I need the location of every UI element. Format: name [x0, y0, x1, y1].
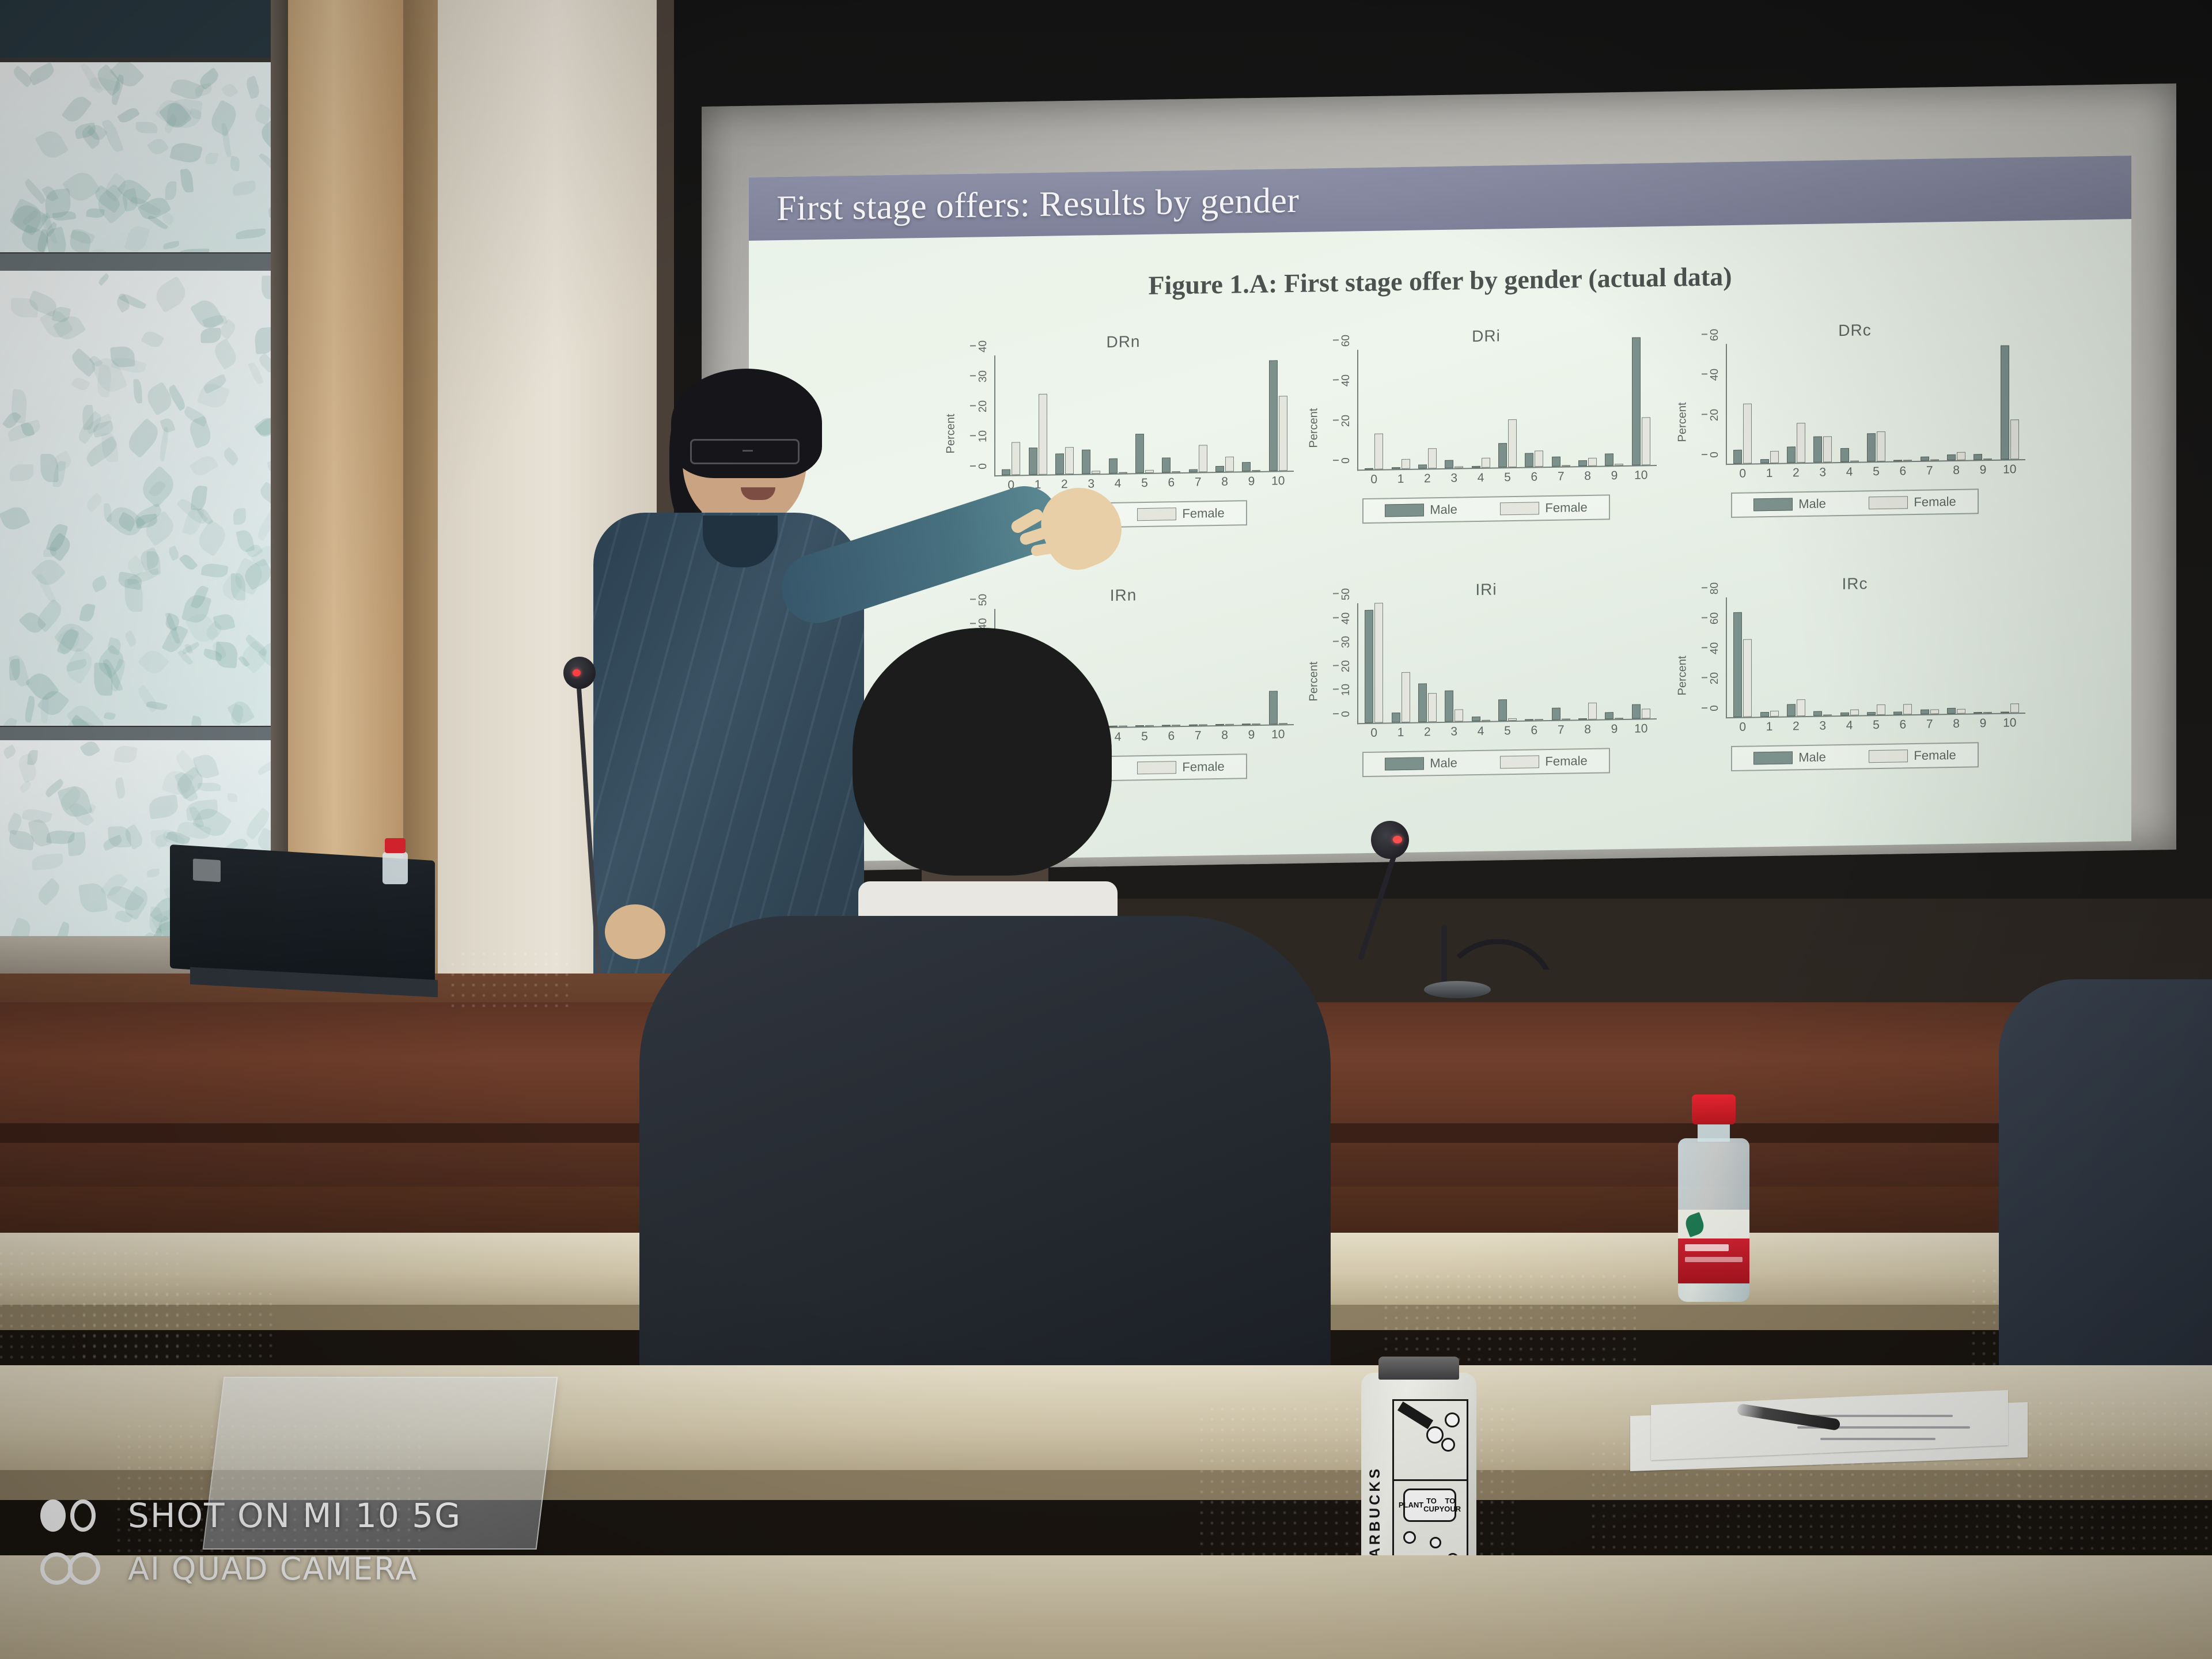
window-mullion — [0, 253, 271, 273]
bar-group — [1024, 355, 1051, 475]
bar-female — [1172, 471, 1180, 472]
bar-group — [1889, 594, 1916, 715]
bar-male — [2001, 711, 2009, 713]
comic-berry — [1426, 1426, 1444, 1444]
bar-female — [1402, 672, 1410, 722]
bar-male — [1498, 699, 1507, 721]
plot-area: Percent0204060012345678910 — [1308, 345, 1665, 495]
bar-series — [1729, 339, 2023, 464]
bar-group — [1863, 342, 1889, 462]
bar-male — [1893, 460, 1902, 461]
bar-male — [1445, 460, 1453, 468]
bar-female — [1455, 466, 1463, 468]
bar-male — [1921, 710, 1929, 714]
bar-group — [1441, 348, 1467, 468]
x-tick-label: 1 — [1756, 467, 1782, 481]
bar-male — [1418, 464, 1427, 468]
microphone-led-indicator — [1393, 836, 1402, 843]
bar-female — [1374, 433, 1383, 469]
chair[interactable] — [449, 950, 570, 1014]
bar-male — [1947, 454, 1956, 461]
bar-male — [1733, 449, 1742, 464]
x-tick-label: 1 — [1756, 720, 1782, 734]
plot-area: Percent020406080012345678910 — [1676, 593, 2033, 743]
bar-female — [1199, 445, 1207, 472]
watermark-line-2: AI QUAD CAMERA — [128, 1551, 418, 1587]
bar-group — [1916, 594, 1943, 714]
bar-male — [1605, 712, 1613, 719]
bar-group — [1729, 343, 1756, 464]
x-tick-label: 2 — [1414, 725, 1441, 740]
x-tick-label: 10 — [1997, 716, 2023, 730]
y-tick-mark — [1702, 618, 1707, 619]
legend-item-male: Male — [1753, 496, 1826, 512]
legend-label-female: Female — [1545, 500, 1587, 516]
bar-female — [1562, 465, 1570, 466]
bar-female — [1957, 452, 1965, 460]
legend-label-female: Female — [1914, 748, 1956, 763]
y-tick-label: 60 — [1709, 612, 1721, 624]
dual-circle-icon — [40, 1499, 108, 1532]
x-tick-label: 9 — [1238, 475, 1264, 489]
y-axis-ticks: 020406080 — [1691, 597, 1725, 719]
bar-series — [1361, 345, 1654, 469]
bar-male — [1162, 457, 1171, 472]
x-tick-label: 3 — [1441, 725, 1467, 739]
chart-title: DRn — [945, 330, 1302, 354]
legend-item-female: Female — [1500, 753, 1587, 770]
bar-male — [1947, 708, 1956, 714]
x-tick-label: 5 — [1863, 465, 1889, 479]
y-tick-mark — [1333, 380, 1339, 381]
x-tick-label: 6 — [1889, 464, 1916, 479]
bar-group — [1387, 603, 1414, 723]
bar-group — [1238, 351, 1264, 472]
y-tick-mark — [1702, 647, 1707, 649]
bar-group — [1494, 347, 1521, 468]
bottle-label-text-line — [1685, 1257, 1743, 1262]
bar-female — [1957, 709, 1965, 714]
comic-berry — [1441, 1438, 1455, 1452]
bar-male — [1472, 717, 1480, 722]
microphone-capsule — [1371, 821, 1409, 859]
bottle-body — [382, 852, 408, 884]
bar-group — [1521, 347, 1547, 467]
bar-male — [1787, 704, 1796, 716]
chart-title: IRc — [1676, 572, 2033, 596]
bar-male — [1029, 448, 1037, 475]
comic-bean — [1430, 1537, 1441, 1548]
bar-female — [1092, 471, 1100, 474]
bar-group — [1601, 346, 1627, 466]
slide-title: First stage offers: Results by gender — [749, 180, 1299, 229]
bar-female — [1588, 703, 1597, 719]
camera-watermark: SHOT ON MI 10 5G AI QUAD CAMERA — [40, 1489, 616, 1595]
legend-item-female: Female — [1500, 500, 1587, 516]
bar-female — [1039, 393, 1047, 475]
bar-group — [1211, 351, 1238, 472]
legend-swatch-male — [1753, 751, 1793, 764]
bar-male — [1760, 459, 1769, 463]
x-tick-label: 4 — [1836, 465, 1862, 479]
legend-swatch-female — [1500, 755, 1539, 768]
legend-label-female: Female — [1914, 494, 1956, 510]
legend-label-male: Male — [1798, 496, 1826, 512]
bar-male — [1867, 434, 1876, 462]
bar-female — [1823, 436, 1832, 462]
bar-male — [1552, 708, 1560, 720]
bar-male — [1242, 463, 1251, 472]
bar-group — [1997, 593, 2023, 713]
bar-female — [1797, 423, 1805, 463]
x-axis-ticks: 012345678910 — [1729, 716, 2023, 734]
legend-swatch-female — [1869, 496, 1908, 509]
legend-item-male: Male — [1385, 755, 1457, 771]
bar-group — [1131, 353, 1158, 474]
x-tick-label: 8 — [1574, 723, 1601, 737]
y-tick-mark — [1702, 677, 1707, 679]
window-post — [271, 0, 288, 979]
chart-legend: MaleFemale — [1731, 488, 1979, 518]
bar-female — [1119, 472, 1127, 474]
bar-group — [1361, 349, 1387, 469]
bar-male — [1055, 453, 1064, 475]
x-tick-label: 5 — [1494, 471, 1521, 485]
y-tick-mark — [1333, 460, 1339, 461]
x-tick-label: 10 — [1628, 722, 1654, 736]
legend-label-female: Female — [1182, 506, 1224, 521]
comic-speech-bubble: PLANT TO CUP TO YOUR — [1403, 1488, 1456, 1522]
y-tick-mark — [1333, 593, 1339, 594]
x-axis-ticks: 012345678910 — [1729, 463, 2023, 481]
bar-female — [1482, 457, 1490, 468]
bar-female — [1279, 396, 1287, 471]
x-tick-label: 5 — [1494, 724, 1521, 738]
bar-female — [1508, 419, 1517, 467]
y-tick-mark — [1702, 707, 1707, 709]
bottle-label-text-line — [1685, 1244, 1729, 1251]
legend-swatch-female — [1137, 507, 1176, 521]
bar-male — [1525, 453, 1533, 467]
bar-group — [1414, 349, 1441, 469]
bar-group — [1863, 595, 1889, 715]
bar-series — [1361, 599, 1654, 723]
chart-title: IRn — [945, 584, 1302, 608]
y-axis-ticks: 0204060 — [1323, 350, 1356, 471]
bar-male — [1760, 712, 1769, 717]
bar-group — [1997, 339, 2023, 460]
bar-male — [1365, 468, 1373, 469]
legend-swatch-male — [1385, 757, 1424, 770]
x-tick-label: 4 — [1104, 476, 1131, 491]
bar-female — [1930, 459, 1939, 460]
bar-group — [1836, 595, 1862, 715]
x-tick-label: 5 — [1863, 718, 1889, 733]
y-tick-mark — [1333, 617, 1339, 618]
bar-female — [1770, 710, 1779, 717]
legend-label-male: Male — [1430, 502, 1457, 517]
bar-female — [1823, 714, 1832, 715]
bar-female — [1225, 457, 1234, 472]
bar-male — [1893, 711, 1902, 714]
audience-head — [853, 628, 1112, 876]
chart-DRc: DRcPercent0204060012345678910MaleFemale — [1676, 319, 2033, 566]
bar-group — [1574, 346, 1601, 467]
x-tick-label: 0 — [1361, 472, 1387, 487]
bar-group — [1521, 600, 1547, 721]
bar-female — [1535, 719, 1543, 720]
x-tick-label: 2 — [1414, 472, 1441, 486]
x-tick-label: 2 — [1783, 719, 1809, 734]
bar-male — [1840, 713, 1849, 715]
x-tick-label: 9 — [1969, 463, 1996, 478]
window-header — [0, 0, 288, 58]
chart-IRc: IRcPercent020406080012345678910MaleFemal… — [1676, 572, 2033, 820]
microphone-gooseneck-lower — [1441, 925, 1447, 988]
bar-group — [1628, 345, 1654, 465]
y-tick-mark — [1333, 419, 1339, 421]
bar-female — [1065, 447, 1074, 474]
bar-group — [1969, 593, 1996, 714]
y-tick-label: 40 — [1340, 374, 1353, 387]
y-tick-mark — [1702, 334, 1707, 335]
bar-female — [1145, 470, 1154, 473]
window — [0, 0, 288, 979]
y-tick-mark — [970, 346, 976, 347]
legend-item-male: Male — [1753, 749, 1826, 766]
bar-female — [1877, 704, 1885, 715]
bar-female — [1770, 451, 1779, 463]
bar-male — [1002, 469, 1010, 475]
legend-item-female: Female — [1869, 494, 1956, 510]
bar-female — [1535, 450, 1543, 467]
y-axis-ticks: 0204060 — [1691, 344, 1725, 465]
legend-item-female: Female — [1869, 748, 1956, 764]
bar-male — [1632, 338, 1641, 465]
bar-female — [1012, 442, 1020, 475]
bar-group — [1387, 349, 1414, 469]
bar-male — [1135, 434, 1144, 473]
y-tick-label: 40 — [1709, 369, 1721, 381]
bar-male — [1445, 691, 1453, 722]
bar-male — [1578, 460, 1587, 467]
bar-female — [1588, 458, 1597, 466]
wood-column-trim — [403, 0, 438, 979]
x-axis-ticks: 012345678910 — [1361, 722, 1654, 740]
x-tick-label: 6 — [1889, 718, 1916, 732]
y-axis-line — [1726, 597, 1727, 718]
bar-group — [1783, 596, 1809, 717]
bar-male — [1921, 457, 1929, 461]
y-tick-label: 60 — [1709, 329, 1721, 341]
bar-male — [1813, 436, 1822, 462]
foliage — [0, 62, 271, 252]
y-tick-label: 40 — [1340, 612, 1353, 624]
bar-female — [1797, 699, 1805, 716]
x-tick-label: 6 — [1521, 470, 1547, 484]
x-tick-label: 4 — [1467, 724, 1494, 738]
small-water-bottle — [380, 838, 410, 884]
bar-group — [1548, 346, 1574, 467]
y-tick-label: 0 — [1709, 452, 1721, 458]
tumbler-lid[interactable] — [1378, 1357, 1459, 1380]
bar-group — [1467, 347, 1494, 468]
desk-microphone — [1371, 821, 1561, 1005]
chart-legend: MaleFemale — [1731, 742, 1979, 771]
y-axis-label: Percent — [1674, 368, 1691, 477]
y-tick-mark — [1702, 588, 1707, 589]
legend-swatch-male — [1385, 503, 1424, 517]
chart-title: DRi — [1308, 324, 1665, 349]
bar-group — [998, 355, 1024, 475]
y-tick-label: 80 — [1709, 582, 1721, 594]
bar-female — [1903, 460, 1912, 461]
bar-group — [1943, 594, 1969, 714]
x-tick-label: 1 — [1387, 472, 1414, 487]
bar-male — [1189, 469, 1198, 472]
bubble-line-1: PLANT — [1399, 1501, 1423, 1509]
bar-female — [1850, 461, 1859, 462]
bar-female — [2010, 419, 2019, 460]
x-tick-label: 3 — [1809, 719, 1836, 733]
bar-female — [2010, 704, 2019, 713]
seminar-room-photo: First stage offers: Results by gender Fi… — [0, 0, 2212, 1659]
y-tick-label: 40 — [1709, 642, 1721, 654]
foliage — [0, 271, 271, 726]
x-tick-label: 7 — [1916, 464, 1943, 478]
y-tick-label: 40 — [977, 340, 990, 353]
bar-female — [1983, 459, 1992, 460]
glasses-icon — [690, 439, 800, 464]
bar-group — [1943, 340, 1969, 461]
x-tick-label: 10 — [1997, 463, 2023, 477]
bar-group — [1756, 597, 1782, 717]
bar-female — [1508, 718, 1517, 721]
bar-male — [1974, 454, 1982, 460]
bar-female — [1482, 720, 1490, 721]
chart-legend: MaleFemale — [1362, 494, 1610, 524]
bar-group — [1078, 354, 1104, 474]
bar-male — [1392, 467, 1400, 469]
bar-male — [1109, 459, 1118, 474]
bar-group — [1809, 342, 1836, 463]
bottle-cap — [385, 838, 406, 853]
y-tick-mark — [1702, 454, 1707, 455]
bar-group — [1185, 352, 1211, 472]
bar-female — [1850, 709, 1859, 715]
x-tick-label: 0 — [1729, 467, 1756, 481]
bar-group — [1467, 601, 1494, 721]
x-tick-label: 5 — [1131, 476, 1158, 491]
bar-male — [1733, 612, 1742, 717]
bubble-line-2: TO CUP — [1423, 1497, 1439, 1513]
bar-series — [998, 351, 1291, 475]
water-bottle[interactable] — [1673, 1094, 1754, 1302]
audience-torso — [639, 916, 1331, 1388]
y-axis-line — [1726, 344, 1727, 465]
x-tick-label: 8 — [1943, 717, 1969, 732]
bar-group — [1916, 340, 1943, 461]
x-tick-label: 6 — [1521, 724, 1547, 738]
bar-female — [1455, 710, 1463, 722]
x-tick-label: 4 — [1836, 718, 1862, 733]
x-tick-label: 4 — [1467, 471, 1494, 485]
chair[interactable] — [2016, 1400, 2212, 1550]
bar-group — [1494, 601, 1521, 721]
bar-group — [1628, 599, 1654, 719]
figure-title: Figure 1.A: First stage offer by gender … — [749, 255, 2131, 307]
bar-female — [1402, 459, 1410, 469]
y-axis-line — [1357, 350, 1358, 471]
y-axis-label: Percent — [1674, 621, 1691, 730]
bar-male — [1552, 456, 1560, 467]
bar-male — [2001, 346, 2009, 460]
bar-female — [1642, 417, 1650, 465]
bar-group — [1809, 596, 1836, 716]
bar-female — [1743, 403, 1752, 463]
bar-female — [1428, 448, 1437, 468]
window-pane-middle — [0, 271, 271, 726]
comic-berry — [1445, 1412, 1460, 1427]
plot-area: Percent010203040012345678910 — [945, 351, 1302, 501]
bar-group — [1158, 353, 1184, 473]
wood-column — [288, 0, 403, 979]
laptop-sticker — [193, 858, 221, 882]
bar-male — [1578, 718, 1587, 719]
bar-group — [1783, 343, 1809, 463]
infinity-icon — [40, 1552, 108, 1585]
bar-male — [1974, 712, 1982, 713]
x-tick-label: 2 — [1783, 466, 1809, 480]
y-axis-line — [994, 355, 995, 476]
x-tick-label: 7 — [1548, 723, 1574, 737]
watermark-line-1: SHOT ON MI 10 5G — [128, 1496, 461, 1535]
chart-title: DRc — [1676, 319, 2033, 343]
x-tick-label: 8 — [1943, 464, 1969, 478]
y-axis-label: Percent — [1305, 373, 1323, 483]
bar-male — [1082, 450, 1090, 474]
bar-male — [1867, 712, 1876, 715]
legend-label-male: Male — [1430, 755, 1457, 771]
legend-label-male: Male — [1798, 749, 1826, 765]
bar-male — [1215, 465, 1224, 472]
bar-male — [1472, 465, 1480, 468]
x-tick-label: 9 — [1969, 717, 1996, 731]
bar-female — [1252, 470, 1260, 471]
bar-female — [1743, 639, 1752, 717]
bar-male — [1498, 444, 1507, 468]
plot-area: Percent0204060012345678910 — [1676, 339, 2033, 489]
y-tick-label: 0 — [1709, 705, 1721, 711]
y-tick-label: 0 — [1340, 457, 1353, 464]
audience-member-center — [622, 628, 1388, 1388]
x-axis-ticks: 012345678910 — [998, 474, 1291, 493]
y-tick-mark — [1702, 414, 1707, 415]
chart-title: IRi — [1308, 578, 1665, 602]
bar-female — [1903, 704, 1912, 714]
y-tick-label: 60 — [1340, 335, 1353, 347]
bottle-neck — [1698, 1122, 1730, 1142]
bar-group — [1265, 351, 1291, 471]
bar-group — [1969, 340, 1996, 460]
bar-male — [1787, 447, 1796, 463]
x-tick-label: 7 — [1916, 717, 1943, 732]
x-tick-label: 1 — [1387, 726, 1414, 740]
comic-arm — [1397, 1402, 1433, 1429]
legend-swatch-female — [1869, 749, 1908, 763]
bottle-cap — [1692, 1094, 1736, 1124]
bar-male — [1840, 448, 1849, 463]
